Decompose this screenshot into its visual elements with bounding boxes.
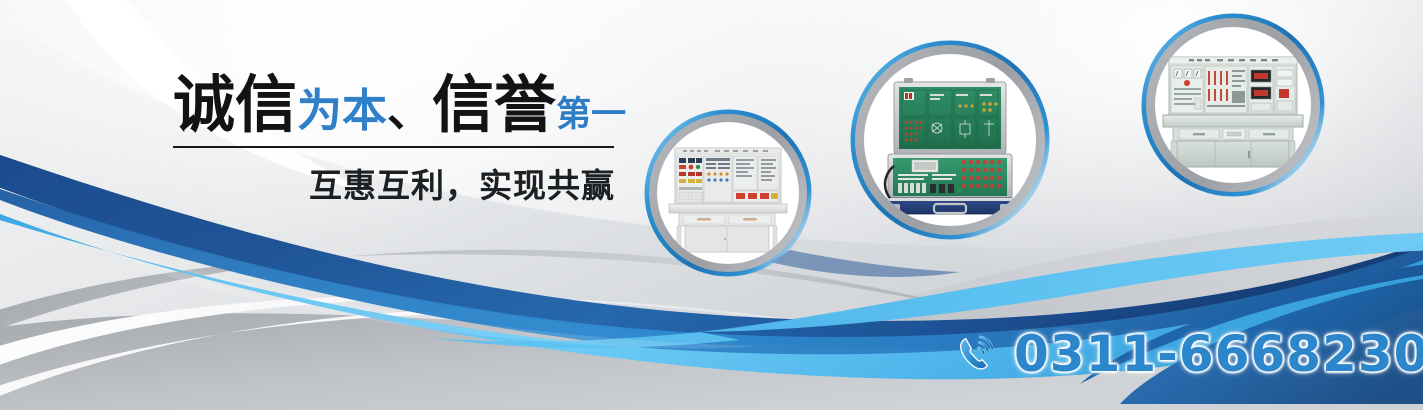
photo-inner-3: [1155, 27, 1311, 183]
headline-part3: 信誉: [432, 68, 556, 141]
headline-part2: 为本: [297, 84, 387, 137]
console-illustration: [1155, 27, 1311, 183]
headline-punctuation: 、: [387, 84, 432, 137]
phone-ringing-icon: [952, 330, 1000, 378]
workbench-illustration-1: [657, 122, 799, 264]
product-photo-3: [1141, 13, 1325, 197]
promo-banner: 诚信为本、信誉第一 互惠互利，实现共赢: [0, 0, 1423, 410]
phone-number[interactable]: 0311-66682303: [1014, 325, 1423, 383]
headline-part4: 第一: [556, 95, 626, 135]
title-divider: [173, 146, 614, 148]
training-case-illustration: [864, 54, 1036, 226]
photo-inner-1: [657, 122, 799, 264]
product-photo-1: [644, 109, 812, 277]
contact-phone[interactable]: 0311-66682303: [952, 325, 1423, 383]
page-title: 诚信为本、信誉第一: [173, 74, 619, 136]
headline-part1: 诚信: [173, 68, 297, 141]
subtitle: 互惠互利，实现共赢: [173, 159, 615, 207]
photo-inner-2: [864, 54, 1036, 226]
product-photo-2: [850, 40, 1050, 240]
